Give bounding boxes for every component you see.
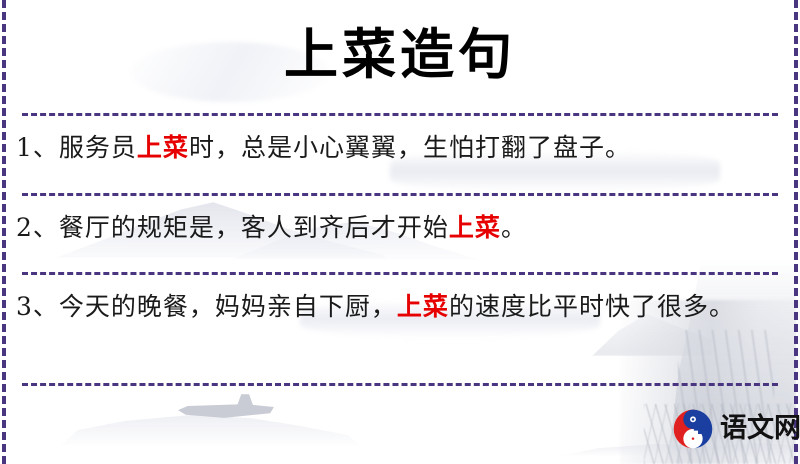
separator-above-sentence-3 bbox=[22, 272, 778, 275]
sentence-2-keyword: 上菜 bbox=[449, 213, 501, 242]
separator-below-sentence-3 bbox=[22, 383, 778, 386]
example-sentence-3: 3、今天的晚餐，妈妈亲自下厨，上菜的速度比平时快了很多。 bbox=[16, 285, 784, 329]
sentence-3-number: 3、 bbox=[16, 292, 59, 321]
sentence-3-before: 今天的晚餐，妈妈亲自下厨， bbox=[59, 292, 397, 321]
site-logo[interactable]: 语文网 bbox=[672, 408, 800, 450]
separator-above-sentence-1 bbox=[22, 113, 778, 116]
sentence-1-after: 时，总是小心翼翼，生怕打翻了盘子。 bbox=[189, 133, 631, 162]
sentence-3-keyword: 上菜 bbox=[397, 292, 449, 321]
sentence-2-before: 餐厅的规矩是，客人到齐后才开始 bbox=[59, 213, 449, 242]
example-sentence-2: 2、餐厅的规矩是，客人到齐后才开始上菜。 bbox=[16, 206, 784, 250]
slide-canvas: 上菜造句 1、服务员上菜时，总是小心翼翼，生怕打翻了盘子。 2、餐厅的规矩是，客… bbox=[0, 0, 800, 464]
sentence-3-after: 的速度比平时快了很多。 bbox=[449, 292, 735, 321]
sentence-2-after: 。 bbox=[501, 213, 527, 242]
separator-above-sentence-2 bbox=[22, 193, 778, 196]
example-sentence-1: 1、服务员上菜时，总是小心翼翼，生怕打翻了盘子。 bbox=[16, 126, 784, 170]
watercolor-boat bbox=[178, 394, 274, 420]
page-title: 上菜造句 bbox=[0, 14, 800, 94]
sentence-1-number: 1、 bbox=[16, 133, 59, 162]
yinyang-circle-icon bbox=[672, 408, 714, 450]
site-logo-text: 语文网 bbox=[720, 414, 800, 444]
watercolor-water bbox=[60, 404, 360, 446]
sentence-1-keyword: 上菜 bbox=[137, 133, 189, 162]
sentence-1-before: 服务员 bbox=[59, 133, 137, 162]
sentence-2-number: 2、 bbox=[16, 213, 59, 242]
